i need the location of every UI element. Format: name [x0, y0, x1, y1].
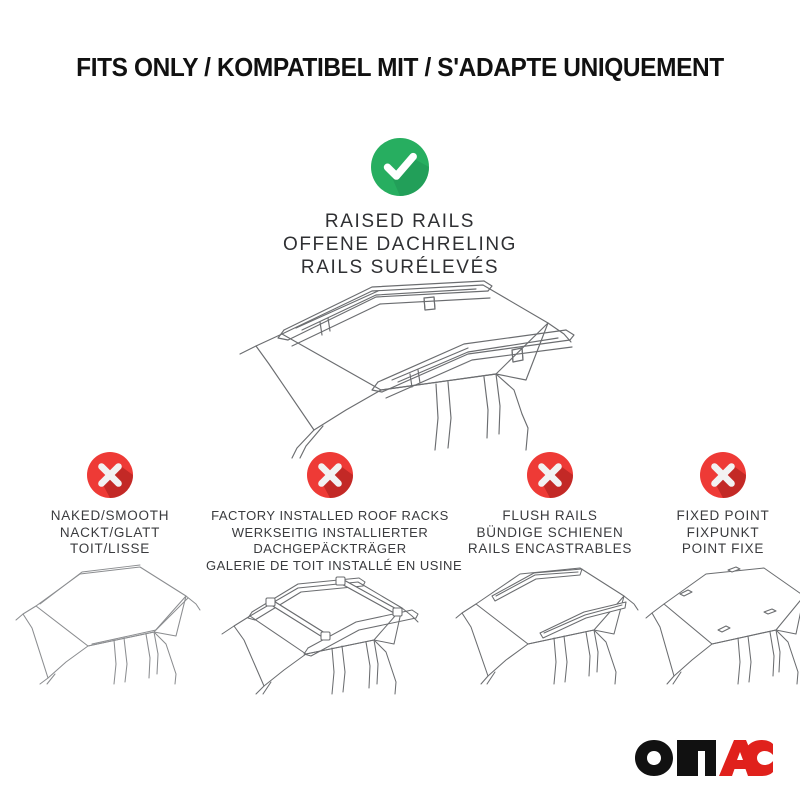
option-labels: NAKED/SMOOTH NACKT/GLATT TOIT/LISSE: [14, 508, 206, 558]
option-flush-rails: FLUSH RAILS BÜNDIGE SCHIENEN RAILS ENCAS…: [456, 452, 644, 558]
option-label-de: BÜNDIGE SCHIENEN: [456, 525, 644, 542]
option-label-en: NAKED/SMOOTH: [14, 508, 206, 525]
page-title: FITS ONLY / KOMPATIBEL MIT / S'ADAPTE UN…: [24, 52, 776, 83]
option-factory-roof-racks: FACTORY INSTALLED ROOF RACKS WERKSEITIG …: [206, 452, 454, 574]
x-circle-icon: [307, 452, 353, 498]
compatible-label-de: OFFENE DACHRELING: [0, 233, 800, 256]
car-roof-naked-smooth-illustration: [14, 554, 206, 684]
option-labels: FIXED POINT FIXPUNKT POINT FIXE: [646, 508, 800, 558]
incompatible-options: NAKED/SMOOTH NACKT/GLATT TOIT/LISSE: [0, 452, 800, 692]
x-circle-icon: [700, 452, 746, 498]
option-label-de-2: DACHGEPÄCKTRÄGER: [206, 541, 454, 558]
page-header: FITS ONLY / KOMPATIBEL MIT / S'ADAPTE UN…: [0, 52, 800, 83]
compatible-labels: RAISED RAILS OFFENE DACHRELING RAILS SUR…: [0, 210, 800, 279]
car-roof-with-raised-rails-illustration: [196, 278, 626, 458]
option-label-de: NACKT/GLATT: [14, 525, 206, 542]
omac-logo: [634, 738, 774, 778]
option-label-en: FACTORY INSTALLED ROOF RACKS: [206, 508, 454, 525]
option-label-en: FIXED POINT: [646, 508, 800, 525]
option-label-de-1: WERKSEITIG INSTALLIERTER: [206, 525, 454, 542]
car-roof-with-factory-crossbars-illustration: [206, 570, 454, 694]
option-naked-smooth: NAKED/SMOOTH NACKT/GLATT TOIT/LISSE: [14, 452, 206, 558]
x-circle-icon: [87, 452, 133, 498]
logo-letter-o: [635, 740, 673, 776]
option-label-en: FLUSH RAILS: [456, 508, 644, 525]
compatible-section: RAISED RAILS OFFENE DACHRELING RAILS SUR…: [0, 138, 800, 279]
option-labels: FACTORY INSTALLED ROOF RACKS WERKSEITIG …: [206, 508, 454, 574]
car-roof-fixed-point-illustration: [646, 554, 800, 684]
compatible-label-en: RAISED RAILS: [0, 210, 800, 233]
option-fixed-point: FIXED POINT FIXPUNKT POINT FIXE: [646, 452, 800, 558]
car-roof-with-flush-rails-illustration: [456, 554, 644, 684]
option-labels: FLUSH RAILS BÜNDIGE SCHIENEN RAILS ENCAS…: [456, 508, 644, 558]
compatible-label-fr: RAILS SURÉLEVÉS: [0, 256, 800, 279]
check-circle-icon: [371, 138, 429, 196]
option-label-de: FIXPUNKT: [646, 525, 800, 542]
x-circle-icon: [527, 452, 573, 498]
